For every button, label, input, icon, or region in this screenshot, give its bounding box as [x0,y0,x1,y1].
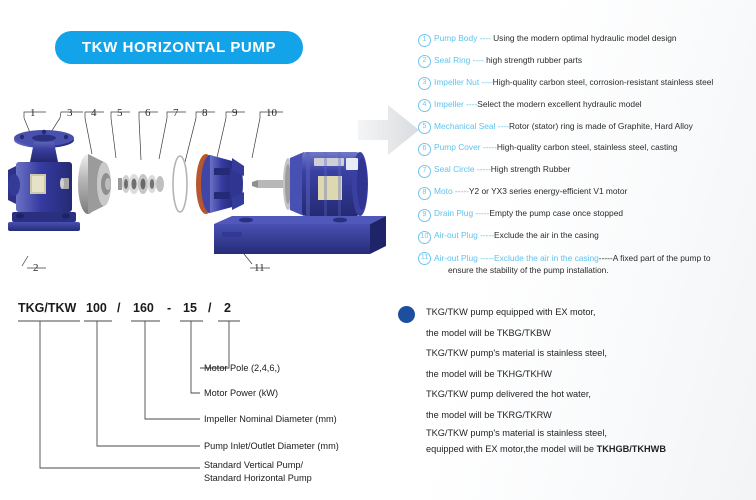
legend-text: Mechanical Seal ----Rotor (stator) ring … [434,121,754,132]
note-line: the model will be TKHG/TKHW [426,364,754,385]
callout-1: 1 [30,107,36,119]
part-mechanical-seal [118,174,164,194]
legend-separator: ---- [464,99,477,109]
model-code-breakdown: TKG/TKW 100 / 160 - 15 / 2 [0,296,392,496]
legend-part-name: Moto [434,186,453,196]
legend-description: Select the modern excellent hydraulic mo… [477,99,641,109]
legend-text: Seal Circle -----High strength Rubber [434,164,754,175]
callout-10: 10 [266,107,277,119]
code-sep-1: / [117,301,121,315]
legend-item: 5 Mechanical Seal ----Rotor (stator) rin… [418,121,754,135]
legend-separator: ----- [453,186,469,196]
legend-item: 10 Air-out Plug -----Exclude the air in … [418,230,754,244]
legend-description: High-quality carbon steel, stainless ste… [497,142,678,152]
legend-part-name: Mechanical Seal [434,121,495,131]
notes-lines: TKG/TKW pump equipped with EX motor, the… [398,302,754,457]
model-label-impeller-dia: Impeller Nominal Diameter (mm) [204,414,337,424]
code-part-prefix: TKG/TKW [18,301,77,315]
code-sep-2: - [167,301,171,315]
legend-number: 1 [418,34,431,47]
legend-description: High-quality carbon steel, corrosion-res… [493,77,714,87]
model-label-standard-1: Standard Vertical Pump/ [204,460,304,470]
legend-number: 4 [418,99,431,112]
code-part-impeller: 160 [133,301,154,315]
model-label-standard-2: Standard Horizontal Pump [204,473,312,483]
callout-11: 11 [254,262,265,274]
model-label-motor-power: Motor Power (kW) [204,388,278,398]
right-arrow-icon [358,103,420,162]
code-sep-3: / [208,301,212,315]
legend-part-name: Seal Circle [434,164,475,174]
callout-4: 4 [91,107,97,119]
legend-description: Using the modern optimal hydraulic model… [493,33,676,43]
legend-number: 5 [418,121,431,134]
legend-number: 3 [418,77,431,90]
legend-text: Air-out Plug -----Exclude the air in the… [434,230,754,241]
legend-text: Air-out Plug -----Exclude the air in the… [434,252,754,276]
exploded-pump-illustration [0,96,390,296]
note-line: TKG/TKW pump's material is stainless ste… [426,343,754,364]
part-pump-cover [196,154,244,214]
legend-number: 6 [418,143,431,156]
note-final-line-1: TKG/TKW pump's material is stainless ste… [426,425,754,441]
legend-text: Seal Ring ---- high strength rubber part… [434,55,754,66]
legend-second-line: ensure the stability of the pump install… [434,264,754,276]
legend-part-name: Impeller Nut [434,77,479,87]
note-line: the model will be TKRG/TKRW [426,405,754,426]
legend-separator: ----- [478,230,494,240]
note-line: TKG/TKW pump equipped with EX motor, [426,302,754,323]
legend-item: 9 Drain Plug -----Empty the pump case on… [418,208,754,222]
bullet-icon [398,306,415,323]
model-label-inlet-dia: Pump Inlet/Outlet Diameter (mm) [204,441,339,451]
legend-description: high strength rubber parts [486,55,582,65]
code-part-pole: 2 [224,301,231,315]
part-seal-circle [173,156,187,212]
model-variant-notes: TKG/TKW pump equipped with EX motor, the… [398,302,754,457]
part-impeller-nut [60,178,69,189]
model-label-motor-pole: Motor Pole (2,4,6,) [204,363,280,373]
legend-number: 11 [418,252,431,265]
callout-5: 5 [117,107,123,119]
callout-6: 6 [145,107,151,119]
legend-item: 3 Impeller Nut ----High-quality carbon s… [418,77,754,91]
legend-item: 7 Seal Circle -----High strength Rubber [418,164,754,178]
legend-item: 6 Pump Cover -----High-quality carbon st… [418,142,754,156]
legend-text: Moto -----Y2 or YX3 series energy-effici… [434,186,754,197]
legend-separator: ----- [475,164,491,174]
legend-dark-part: -----A fixed part of the pump to [599,253,711,263]
legend-item: 4 Impeller ----Select the modern excelle… [418,99,754,113]
part-motor [252,152,368,216]
legend-item: 2 Seal Ring ---- high strength rubber pa… [418,55,754,69]
legend-separator: ----- [481,142,497,152]
callout-3: 3 [67,107,73,119]
legend-text: Pump Body ---- Using the modern optimal … [434,33,754,44]
legend-number: 10 [418,231,431,244]
page-root: TKW HORIZONTAL PUMP [0,0,756,500]
code-part-power: 15 [183,301,197,315]
part-impeller [78,154,111,214]
legend-number: 8 [418,187,431,200]
legend-description: Empty the pump case once stopped [489,208,623,218]
legend-item: 8 Moto -----Y2 or YX3 series energy-effi… [418,186,754,200]
note-final-line-2: equipped with EX motor,the model will be… [426,441,754,457]
legend-text: Impeller ----Select the modern excellent… [434,99,754,110]
legend-item-last: 11 Air-out Plug -----Exclude the air in … [418,252,754,276]
note-final-head: equipped with EX motor,the model will be [426,444,597,454]
legend-part-name: Seal Ring [434,55,470,65]
legend-cyan-part: Air-out Plug -----Exclude the air in the… [434,253,599,263]
part-pump-body [8,130,80,231]
legend-number: 9 [418,209,431,222]
legend-description: Exclude the air in the casing [494,230,599,240]
legend-description: Y2 or YX3 series energy-efficient V1 mot… [469,186,627,196]
parts-legend-list: 1 Pump Body ---- Using the modern optima… [418,33,754,284]
note-line: the model will be TKBG/TKBW [426,323,754,344]
legend-number: 2 [418,55,431,68]
part-base-plate [214,216,386,254]
note-line: TKG/TKW pump delivered the hot water, [426,384,754,405]
callout-2: 2 [33,262,39,274]
legend-number: 7 [418,165,431,178]
legend-part-name: Air-out Plug [434,230,478,240]
page-title-banner: TKW HORIZONTAL PUMP [55,31,303,64]
callout-9: 9 [232,107,238,119]
legend-description: High strength Rubber [491,164,571,174]
callout-7: 7 [173,107,179,119]
legend-separator: ---- [470,55,486,65]
legend-item: 1 Pump Body ---- Using the modern optima… [418,33,754,47]
legend-separator: ---- [479,77,492,87]
legend-separator: ----- [473,208,489,218]
legend-separator: ---- [495,121,508,131]
callout-8: 8 [202,107,208,119]
legend-part-name: Pump Cover [434,142,481,152]
legend-separator: ---- [477,33,493,43]
legend-part-name: Drain Plug [434,208,473,218]
legend-text: Impeller Nut ----High-quality carbon ste… [434,77,754,88]
legend-part-name: Pump Body [434,33,477,43]
page-title: TKW HORIZONTAL PUMP [82,39,276,56]
code-part-inlet: 100 [86,301,107,315]
legend-description: Rotor (stator) ring is made of Graphite,… [509,121,693,131]
legend-text: Pump Cover -----High-quality carbon stee… [434,142,754,153]
legend-text: Drain Plug -----Empty the pump case once… [434,208,754,219]
legend-part-name: Impeller [434,99,464,109]
note-final-bold: TKHGB/TKHWB [597,444,666,454]
